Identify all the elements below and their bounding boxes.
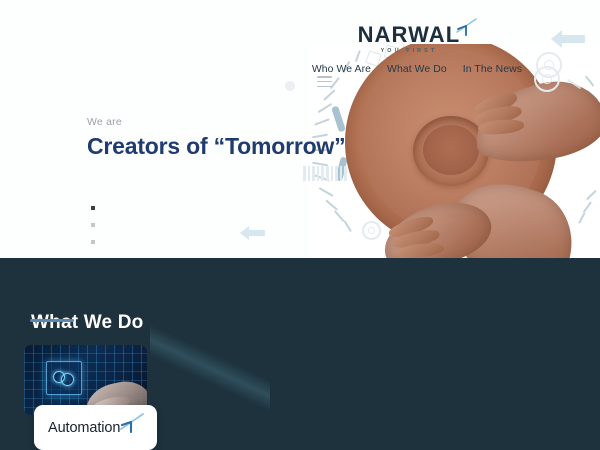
section-title: What We Do: [31, 312, 143, 334]
gear-outline-icon: [534, 66, 560, 92]
service-card-automation[interactable]: Automation: [24, 345, 147, 450]
hero-copy: We are Creators of “Tomorrow”: [87, 116, 345, 159]
arrow-left-icon: [240, 226, 265, 240]
gears-glow-icon: [53, 369, 73, 385]
carousel-dot-1[interactable]: [91, 206, 95, 210]
nav-link-who-we-are[interactable]: Who We Are: [312, 64, 371, 75]
page-root: NARWAL YOU FIRST Who We Are What We Do I…: [0, 0, 600, 450]
hero-eyebrow: We are: [87, 116, 345, 128]
bar-decoration: [303, 166, 347, 181]
service-card-title: Automation: [48, 420, 120, 436]
clay-vessel-inner: [423, 125, 479, 175]
main-nav: Who We Are What We Do In The News: [312, 64, 522, 75]
site-header: NARWAL YOU FIRST Who We Are What We Do I…: [312, 24, 522, 75]
nav-link-in-the-news[interactable]: In The News: [463, 64, 522, 75]
carousel-dot-2[interactable]: [91, 223, 95, 227]
page-title: Creators of “Tomorrow”: [87, 134, 345, 159]
carousel-indicators[interactable]: [91, 206, 95, 257]
logo[interactable]: NARWAL YOU FIRST: [358, 24, 477, 54]
dot-decoration: [285, 81, 295, 91]
service-card-label[interactable]: Automation: [34, 405, 157, 450]
hero-section: NARWAL YOU FIRST Who We Are What We Do I…: [0, 0, 600, 258]
logo-tagline: YOU FIRST: [358, 48, 461, 54]
section-title-underline: [30, 319, 74, 322]
logo-text: NARWAL: [358, 24, 461, 46]
arrow-left-icon: [551, 30, 585, 48]
swoosh-bird-icon: [456, 18, 478, 36]
carousel-dot-3[interactable]: [91, 240, 95, 244]
nav-link-what-we-do[interactable]: What We Do: [387, 64, 447, 75]
swoosh-bird-icon: [119, 413, 145, 433]
hamburger-menu-icon[interactable]: [317, 76, 332, 90]
diagonal-streak-decoration: [150, 258, 270, 450]
